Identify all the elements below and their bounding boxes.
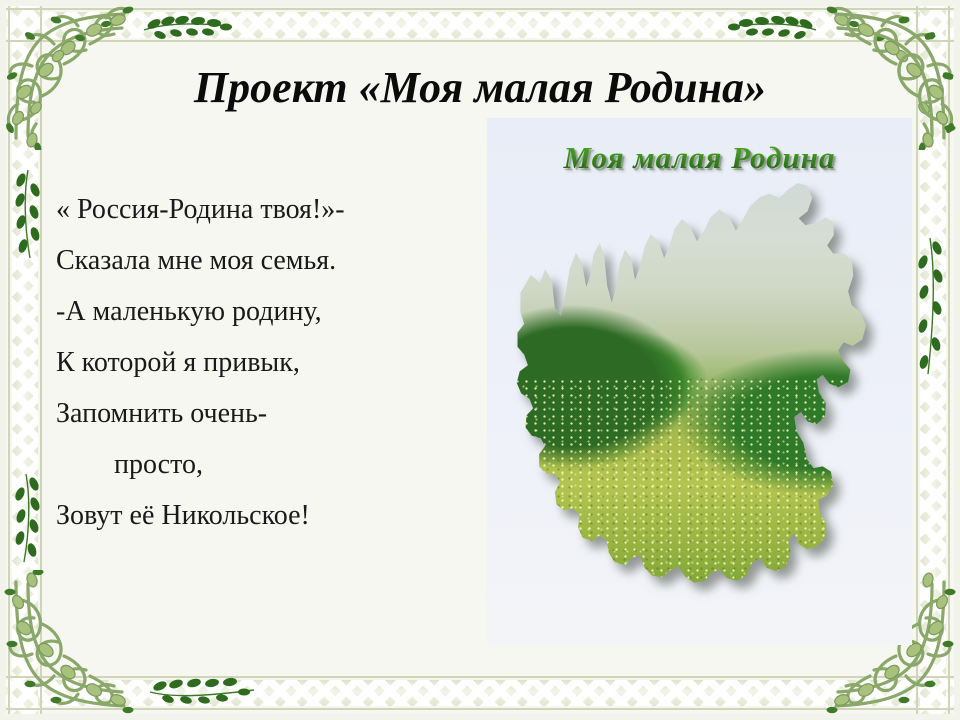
leaf-sprig-icon xyxy=(12,472,42,564)
poem-line: Запомнить очень- xyxy=(56,388,466,439)
page-title: Проект «Моя малая Родина» xyxy=(60,62,900,114)
poem-line: Зовут её Никольское! xyxy=(56,490,466,541)
border-rule-left-outer xyxy=(8,0,10,720)
map-silhouette xyxy=(513,176,887,616)
russia-map-image: Моя малая Родина xyxy=(487,118,912,645)
leaf-sprig-icon xyxy=(142,12,232,42)
border-rule-top-inner xyxy=(0,40,960,42)
leaf-sprig-icon xyxy=(916,236,946,376)
border-band-left xyxy=(12,0,38,720)
poem-line: -А маленькую родину, xyxy=(56,286,466,337)
poem-line: Сказала мне моя семья. xyxy=(56,235,466,286)
poem-line: К которой я привык, xyxy=(56,337,466,388)
poem-line: « Россия-Родина твоя!»- xyxy=(56,184,466,235)
border-rule-right-inner xyxy=(916,0,918,720)
border-band-top xyxy=(0,12,960,38)
border-rule-bottom-outer xyxy=(0,708,960,710)
image-caption-wordart: Моя малая Родина xyxy=(487,140,912,176)
border-band-right xyxy=(920,0,946,720)
border-rule-left-inner xyxy=(40,0,42,720)
map-landscape-fill xyxy=(513,176,887,616)
border-rule-right-outer xyxy=(948,0,950,720)
border-rule-bottom-inner xyxy=(0,676,960,678)
leaf-sprig-icon xyxy=(148,672,258,706)
slide: Проект «Моя малая Родина» « Россия-Родин… xyxy=(0,0,960,720)
leaf-sprig-icon xyxy=(728,12,818,42)
vine-corner-icon xyxy=(2,570,152,720)
leaf-sprig-icon xyxy=(12,168,42,260)
poem-text-block: « Россия-Родина твоя!»- Сказала мне моя … xyxy=(56,184,466,541)
meadow-texture xyxy=(513,378,887,616)
border-rule-top-outer xyxy=(0,8,960,10)
poem-line: просто, xyxy=(56,439,466,490)
border-band-bottom xyxy=(0,680,960,706)
